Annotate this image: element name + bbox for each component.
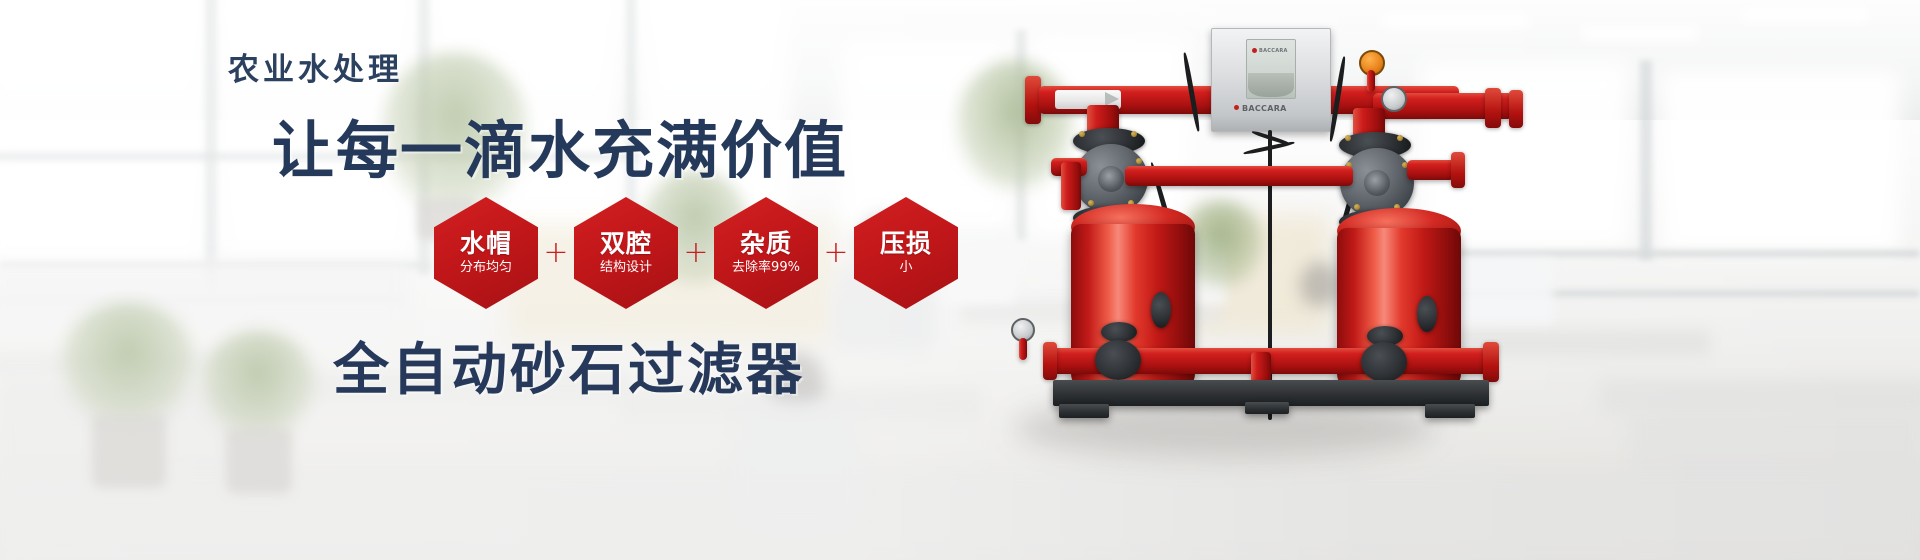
- feature-subtitle: 去除率99%: [732, 261, 800, 275]
- plus-separator-icon: +: [818, 238, 854, 268]
- banner-text-layer: 农业水处理 让每一滴水充满价值 水帽 分布均匀 + 双腔 结构设计 + 杂质: [0, 0, 1920, 560]
- feature-title: 水帽: [460, 231, 512, 257]
- main-headline: 让每一滴水充满价值: [272, 100, 848, 190]
- product-name-headline: 全自动砂石过滤器: [333, 325, 805, 406]
- feature-title: 杂质: [740, 231, 792, 257]
- feature-badge-1[interactable]: 水帽 分布均匀: [434, 197, 538, 309]
- feature-subtitle: 结构设计: [600, 261, 652, 275]
- hexagon-shape: 双腔 结构设计: [574, 197, 678, 309]
- feature-title: 双腔: [600, 231, 652, 257]
- feature-badge-2[interactable]: 双腔 结构设计: [574, 197, 678, 309]
- feature-subtitle: 分布均匀: [460, 261, 512, 275]
- plus-separator-icon: +: [678, 238, 714, 268]
- hexagon-shape: 水帽 分布均匀: [434, 197, 538, 309]
- hexagon-shape: 杂质 去除率99%: [714, 197, 818, 309]
- hexagon-shape: 压损 小: [854, 197, 958, 309]
- product-hero-banner: BACCARA BACCARA: [0, 0, 1920, 560]
- feature-badge-3[interactable]: 杂质 去除率99%: [714, 197, 818, 309]
- feature-subtitle: 小: [899, 261, 912, 275]
- eyebrow-text: 农业水处理: [228, 44, 403, 89]
- plus-separator-icon: +: [538, 238, 574, 268]
- feature-badge-4[interactable]: 压损 小: [854, 197, 958, 309]
- feature-badge-row: 水帽 分布均匀 + 双腔 结构设计 + 杂质 去除率99% +: [434, 197, 958, 309]
- feature-title: 压损: [880, 231, 932, 257]
